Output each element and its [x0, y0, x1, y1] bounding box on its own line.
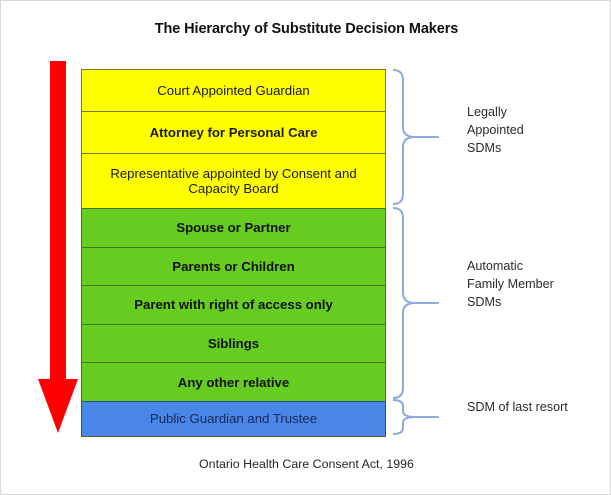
- group-label-automatic-family-member: Automatic Family Member SDMs: [467, 258, 607, 312]
- descending-priority-arrow-icon: [34, 61, 82, 441]
- page-title: The Hierarchy of Substitute Decision Mak…: [1, 21, 611, 37]
- source-caption: Ontario Health Care Consent Act, 1996: [1, 457, 611, 471]
- tier-row-parents-or-children: Parents or Children: [81, 247, 386, 286]
- tier-row-any-other-relative: Any other relative: [81, 362, 386, 401]
- tier-row-parent-right-of-access-only: Parent with right of access only: [81, 285, 386, 324]
- brace-automatic-family-icon: [389, 205, 441, 401]
- group-label-last-resort: SDM of last resort: [467, 399, 611, 417]
- tier-row-spouse-or-partner: Spouse or Partner: [81, 208, 386, 247]
- tier-row-attorney-for-personal-care: Attorney for Personal Care: [81, 111, 386, 153]
- brace-last-resort-icon: [389, 397, 441, 437]
- diagram-canvas: The Hierarchy of Substitute Decision Mak…: [0, 0, 611, 495]
- sdm-hierarchy-stack: Court Appointed Guardian Attorney for Pe…: [81, 69, 386, 435]
- group-label-legally-appointed: Legally Appointed SDMs: [467, 104, 607, 158]
- tier-row-siblings: Siblings: [81, 324, 386, 363]
- tier-row-court-appointed-guardian: Court Appointed Guardian: [81, 69, 386, 111]
- tier-row-representative-consent-capacity-board: Representative appointed by Consent and …: [81, 153, 386, 208]
- tier-row-public-guardian-and-trustee: Public Guardian and Trustee: [81, 401, 386, 437]
- brace-legally-appointed-icon: [389, 67, 441, 207]
